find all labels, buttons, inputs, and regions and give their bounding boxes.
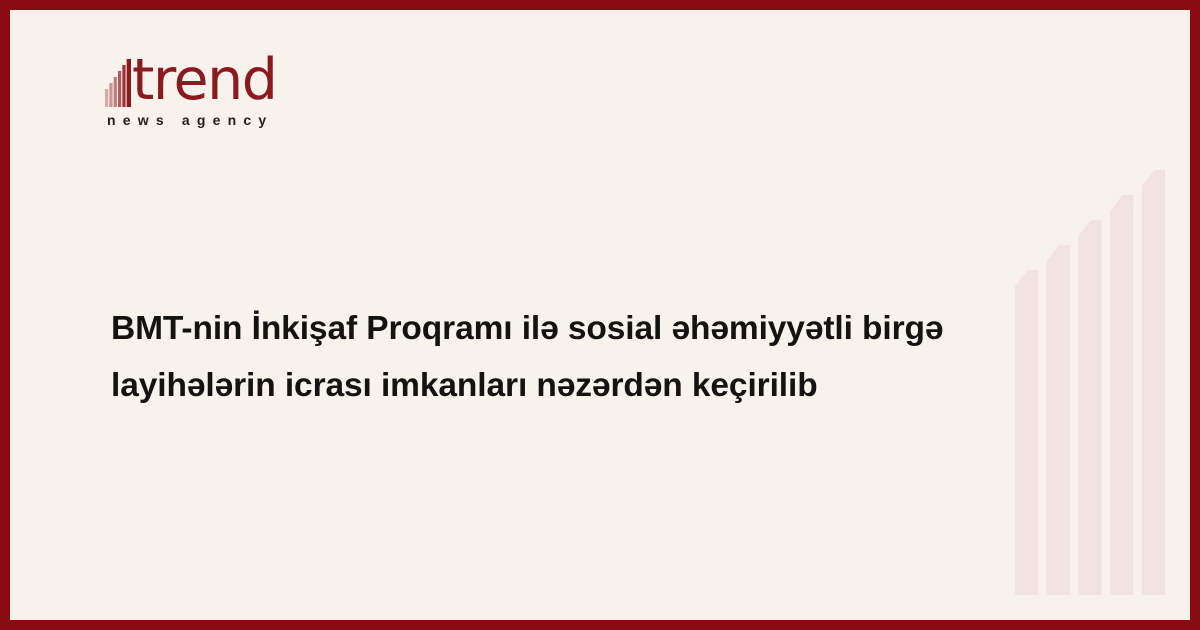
headline: BMT-nin İnkişaf Proqramı ilə sosial əhəm… <box>111 300 1016 414</box>
ascending-bars-icon <box>105 59 131 107</box>
trend-news-agency-logo[interactable]: trend news agency <box>105 52 405 142</box>
logo-wordmark: trend <box>132 52 276 108</box>
ascending-bars-watermark <box>1015 170 1165 595</box>
logo-tagline: news agency <box>107 112 405 128</box>
headline-line-2: layihələrin icrası imkanları nəzərdən ke… <box>111 357 1016 414</box>
social-share-card: trend news agency BMT-nin İnkişaf Proqra… <box>0 0 1200 630</box>
ascending-bars-icon <box>1015 170 1165 595</box>
headline-line-1: BMT-nin İnkişaf Proqramı ilə sosial əhəm… <box>111 300 1016 357</box>
logo-mark-row: trend <box>105 52 405 108</box>
